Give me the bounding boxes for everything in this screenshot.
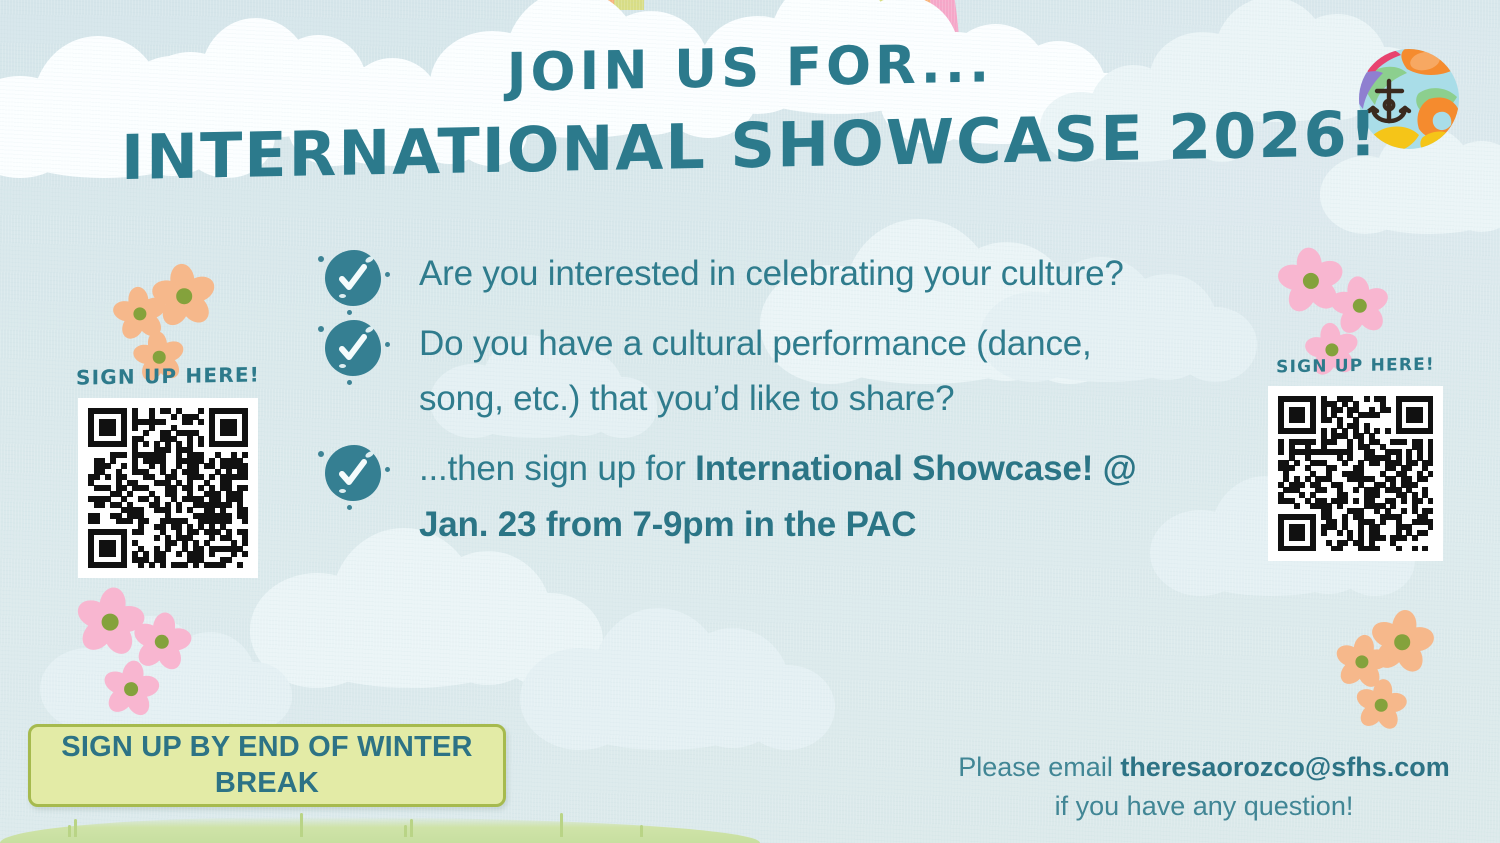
- poster-canvas: Join Us For... International Showcase 20…: [0, 0, 1500, 843]
- qr-block-right[interactable]: Sign up here!: [1268, 356, 1443, 566]
- bullet-item-3: ...then sign up for International Showca…: [325, 441, 1155, 552]
- footer-email[interactable]: theresaorozco@sfhs.com: [1120, 752, 1449, 782]
- banner-line-2: BREAK: [215, 767, 319, 799]
- grass-blade: [640, 825, 643, 837]
- qr-frame-left[interactable]: [78, 398, 258, 578]
- rainbow-band-yellow: [614, 0, 902, 10]
- grass-strip: [0, 817, 760, 843]
- flower-icon: [138, 618, 186, 666]
- title-line-1: Join Us For...: [0, 28, 1500, 110]
- check-circle-icon: [325, 250, 381, 306]
- banner-text: SIGN UP BY END OF WINTER BREAK: [61, 730, 472, 801]
- grass-blade: [404, 825, 407, 837]
- grass-blade: [68, 825, 71, 837]
- qr-block-left[interactable]: Sign up here!: [76, 364, 260, 583]
- sign-up-deadline-banner: SIGN UP BY END OF WINTER BREAK: [28, 724, 506, 807]
- bullet-text-3-plain: ...then sign up for: [419, 449, 695, 488]
- bullet-text-3: ...then sign up for International Showca…: [419, 441, 1155, 552]
- title-line-2: International Showcase 2026!: [0, 101, 1500, 192]
- flower-icon: [108, 666, 154, 712]
- flower-icon: [1340, 640, 1384, 684]
- flower-icon: [1336, 282, 1384, 330]
- bullet-list: Are you interested in celebrating your c…: [325, 246, 1155, 566]
- grass-blade: [560, 813, 563, 837]
- check-circle-icon: [325, 445, 381, 501]
- flower-icon: [158, 270, 210, 322]
- footer-prefix: Please email: [958, 752, 1120, 782]
- qr-label-left: Sign up here!: [76, 362, 260, 389]
- check-circle-icon: [325, 320, 381, 376]
- bullet-text-2: Do you have a cultural performance (danc…: [419, 316, 1155, 427]
- flower-icon: [118, 292, 162, 336]
- bullet-item-2: Do you have a cultural performance (danc…: [325, 316, 1155, 427]
- qr-label-right: Sign up here!: [1268, 354, 1443, 377]
- flower-icon: [1360, 684, 1402, 726]
- qr-code[interactable]: [88, 408, 248, 568]
- grass-blade: [74, 819, 77, 837]
- bullet-text-1: Are you interested in celebrating your c…: [419, 246, 1155, 302]
- page-title: Join Us For... International Showcase 20…: [0, 42, 1500, 177]
- qr-code[interactable]: [1278, 396, 1433, 551]
- banner-line-1: SIGN UP BY END OF WINTER: [61, 731, 472, 763]
- footer-suffix: if you have any question!: [1055, 791, 1354, 821]
- grass-blade: [410, 819, 413, 837]
- cloud-shape: [520, 600, 820, 750]
- bullet-item-1: Are you interested in celebrating your c…: [325, 246, 1155, 302]
- grass-blade: [300, 813, 303, 837]
- qr-frame-right[interactable]: [1268, 386, 1443, 561]
- flower-icon: [82, 594, 138, 650]
- contact-footer: Please email theresaorozco@sfhs.com if y…: [934, 748, 1474, 827]
